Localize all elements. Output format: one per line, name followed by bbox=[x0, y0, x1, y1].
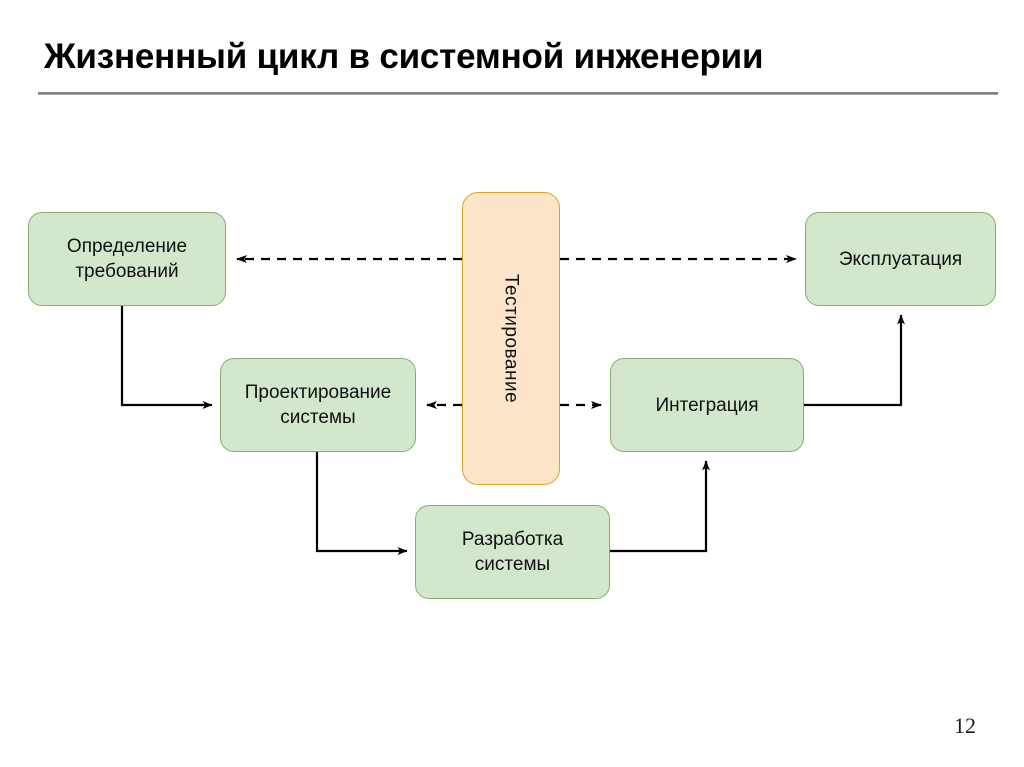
node-integration[interactable]: Интеграция bbox=[610, 358, 804, 452]
node-requirements-label: Определение требований bbox=[67, 234, 187, 284]
node-requirements[interactable]: Определение требований bbox=[28, 212, 226, 306]
connector-development-to-integration bbox=[610, 461, 706, 551]
connector-design-to-development bbox=[317, 452, 407, 551]
connector-requirements-to-design bbox=[122, 306, 212, 405]
lifecycle-diagram: Определение требований Проектирование си… bbox=[0, 0, 1024, 767]
node-operation[interactable]: Эксплуатация bbox=[805, 212, 996, 306]
node-system-design-label: Проектирование системы bbox=[245, 380, 391, 430]
node-system-development[interactable]: Разработка системы bbox=[415, 505, 610, 599]
node-system-design[interactable]: Проектирование системы bbox=[220, 358, 416, 452]
node-system-development-label: Разработка системы bbox=[462, 527, 563, 577]
slide: Жизненный цикл в системной инженерии bbox=[0, 0, 1024, 767]
node-testing-label: Тестирование bbox=[499, 274, 524, 403]
slide-number: 12 bbox=[954, 713, 976, 739]
node-integration-label: Интеграция bbox=[655, 393, 758, 418]
node-testing[interactable]: Тестирование bbox=[462, 192, 560, 485]
node-operation-label: Эксплуатация bbox=[839, 247, 962, 272]
connector-integration-to-operation bbox=[804, 315, 901, 405]
